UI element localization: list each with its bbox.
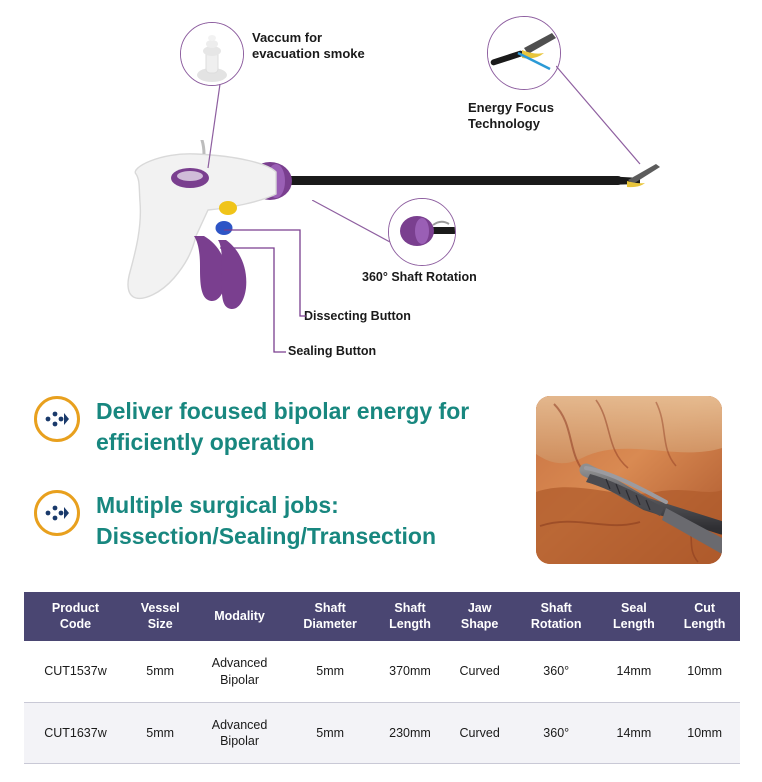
vacuum-label-line2: evacuation smoke <box>252 46 365 62</box>
header-product-code: Product Code <box>24 592 127 641</box>
header-shaft-diameter: Shaft Diameter <box>286 592 375 641</box>
header-modality: Modality <box>193 592 285 641</box>
header-jaw-shape: Jaw Shape <box>445 592 514 641</box>
vacuum-leader-line <box>198 84 224 170</box>
shaft-rotation-callout-circle <box>388 198 456 266</box>
energy-focus-label-line2: Technology <box>468 116 554 132</box>
device-drawing <box>100 140 660 360</box>
header-cut-length-line2: Length <box>671 617 738 633</box>
header-modality-line1: Modality <box>195 609 283 625</box>
header-shaft-length-line1: Shaft <box>377 601 444 617</box>
table-row: CUT1637w 5mm Advanced Bipolar 5mm 230mm … <box>24 702 740 764</box>
header-jaw-shape-line2: Shape <box>447 617 512 633</box>
header-seal-length-line2: Length <box>601 617 668 633</box>
shaft-rotation-callout-label: 360° Shaft Rotation <box>362 270 477 286</box>
product-illustration: Vaccum for evacuation smoke Energy Focus… <box>0 0 762 378</box>
arrow-dots-glyph <box>45 503 69 523</box>
bullet-text-2: Multiple surgical jobs: Dissection/Seali… <box>96 490 436 552</box>
cell-shaft-length: 230mm <box>375 702 446 764</box>
bullet-text-1: Deliver focused bipolar energy for effic… <box>96 396 469 458</box>
header-product-code-line1: Product <box>26 601 125 617</box>
header-shaft-diameter-line1: Shaft <box>288 601 373 617</box>
cell-shaft-diameter: 5mm <box>286 641 375 702</box>
bullet-1-line1: Deliver focused bipolar energy for <box>96 396 469 427</box>
energy-focus-label-line1: Energy Focus <box>468 100 554 116</box>
header-jaw-shape-line1: Jaw <box>447 601 512 617</box>
cell-cut-length: 10mm <box>669 702 740 764</box>
sealing-button-label: Sealing Button <box>288 344 376 360</box>
header-vessel-size-line2: Size <box>129 617 191 633</box>
cell-modality-line2: Bipolar <box>195 672 283 688</box>
energy-focus-callout-label: Energy Focus Technology <box>468 100 554 133</box>
header-cut-length-line1: Cut <box>671 601 738 617</box>
vacuum-callout-label: Vaccum for evacuation smoke <box>252 30 365 63</box>
arrow-dots-icon <box>34 490 80 536</box>
header-seal-length: Seal Length <box>599 592 670 641</box>
arrow-dots-glyph <box>45 409 69 429</box>
cell-seal-length: 14mm <box>599 641 670 702</box>
header-shaft-rotation-line2: Rotation <box>516 617 597 633</box>
header-cut-length: Cut Length <box>669 592 740 641</box>
bullet-1-line2: efficiently operation <box>96 427 469 458</box>
header-product-code-line2: Code <box>26 617 125 633</box>
cell-vessel-size: 5mm <box>127 702 193 764</box>
cell-product-code: CUT1537w <box>24 641 127 702</box>
vacuum-callout-circle <box>180 22 244 86</box>
energy-focus-leader-line <box>556 60 646 170</box>
bullet-item-1: Deliver focused bipolar energy for effic… <box>34 396 469 458</box>
cell-shaft-rotation: 360° <box>514 702 599 764</box>
specifications-table: Product Code Vessel Size Modality Shaft … <box>24 592 740 764</box>
dissecting-button-label: Dissecting Button <box>304 309 411 325</box>
header-shaft-rotation: Shaft Rotation <box>514 592 599 641</box>
cell-shaft-length: 370mm <box>375 641 446 702</box>
header-seal-length-line1: Seal <box>601 601 668 617</box>
header-vessel-size-line1: Vessel <box>129 601 191 617</box>
cell-seal-length: 14mm <box>599 702 670 764</box>
cell-modality-line1: Advanced <box>195 655 283 671</box>
bullet-2-line1: Multiple surgical jobs: <box>96 490 436 521</box>
cell-product-code: CUT1637w <box>24 702 127 764</box>
cell-shaft-diameter: 5mm <box>286 702 375 764</box>
cell-shaft-rotation: 360° <box>514 641 599 702</box>
header-shaft-rotation-line1: Shaft <box>516 601 597 617</box>
cell-vessel-size: 5mm <box>127 641 193 702</box>
cell-modality: Advanced Bipolar <box>193 702 285 764</box>
vacuum-label-line1: Vaccum for <box>252 30 365 46</box>
header-shaft-length-line2: Length <box>377 617 444 633</box>
surgical-procedure-photo <box>536 396 722 564</box>
header-shaft-diameter-line2: Diameter <box>288 617 373 633</box>
shaft-rotation-leader-line <box>312 200 392 244</box>
cell-jaw-shape: Curved <box>445 702 514 764</box>
cell-modality-line2: Bipolar <box>195 733 283 749</box>
bullet-2-line2: Dissection/Sealing/Transection <box>96 521 436 552</box>
arrow-dots-icon <box>34 396 80 442</box>
cell-modality: Advanced Bipolar <box>193 641 285 702</box>
sealing-button-leader-line <box>218 240 288 358</box>
header-vessel-size: Vessel Size <box>127 592 193 641</box>
table-row: CUT1537w 5mm Advanced Bipolar 5mm 370mm … <box>24 641 740 702</box>
energy-focus-callout-circle <box>487 16 561 90</box>
bullet-item-2: Multiple surgical jobs: Dissection/Seali… <box>34 490 436 552</box>
cell-modality-line1: Advanced <box>195 717 283 733</box>
table-header-row: Product Code Vessel Size Modality Shaft … <box>24 592 740 641</box>
header-shaft-length: Shaft Length <box>375 592 446 641</box>
cell-jaw-shape: Curved <box>445 641 514 702</box>
cell-cut-length: 10mm <box>669 641 740 702</box>
